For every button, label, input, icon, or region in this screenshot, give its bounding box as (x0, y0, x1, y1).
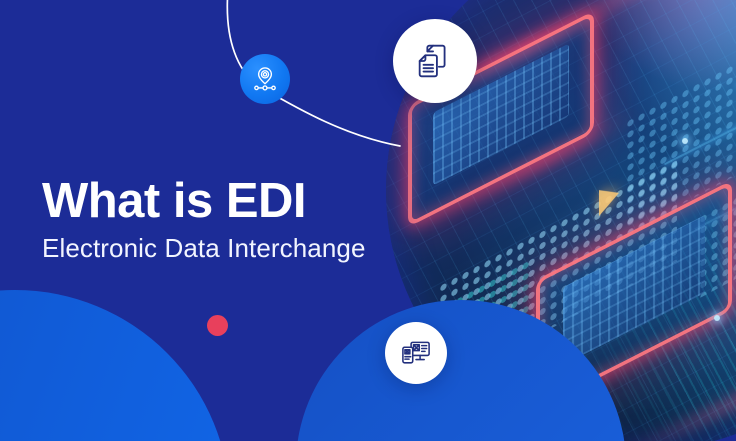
location-pin-network-icon (248, 62, 282, 96)
edi-banner: What is EDI Electronic Data Interchange (0, 0, 736, 441)
monitor-mobile-data-icon (398, 335, 434, 371)
red-dot (207, 315, 228, 336)
badge-location[interactable] (240, 54, 290, 104)
badge-documents[interactable] (393, 19, 477, 103)
badge-devices[interactable] (385, 322, 447, 384)
page-title: What is EDI (42, 176, 306, 227)
page-subtitle: Electronic Data Interchange (42, 233, 366, 264)
two-documents-icon (412, 38, 458, 84)
